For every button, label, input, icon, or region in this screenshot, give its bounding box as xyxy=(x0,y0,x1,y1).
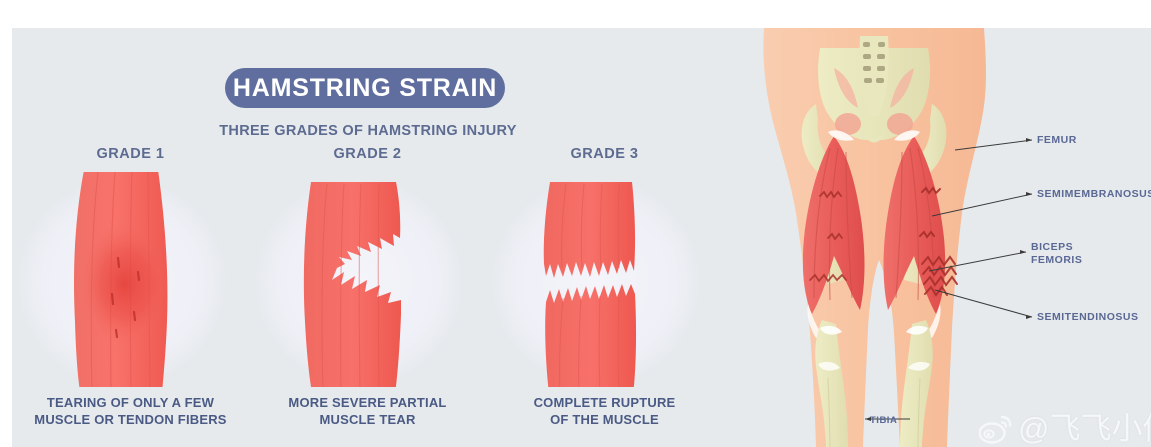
arrow-biceps-femoris xyxy=(1020,250,1026,254)
label-biceps-femoris-line2: FEMORIS xyxy=(1031,254,1082,266)
grade-2-panel: GRADE 2 xyxy=(249,146,486,446)
infographic-root: HAMSTRING STRAIN THREE GRADES OF HAMSTRI… xyxy=(0,0,1151,447)
grade-2-illustration xyxy=(249,172,486,387)
label-biceps-femoris: BICEPS FEMORIS xyxy=(1031,241,1082,267)
label-biceps-femoris-line1: BICEPS xyxy=(1031,241,1073,253)
anatomy-section: FEMUR SEMIMEMBRANOSUS BICEPS FEMORIS SEM… xyxy=(724,28,1151,447)
grade-2-caption-line2: MUSCLE TEAR xyxy=(319,412,415,427)
label-tibia: TIBIA xyxy=(870,414,897,427)
grade-2-caption-line1: MORE SEVERE PARTIAL xyxy=(288,395,446,410)
arrow-semitendinosus xyxy=(1026,315,1032,319)
leader-biceps-femoris xyxy=(929,252,1026,271)
label-semitendinosus: SEMITENDINOSUS xyxy=(1037,311,1139,324)
grades-section: HAMSTRING STRAIN THREE GRADES OF HAMSTRI… xyxy=(12,28,724,447)
title-banner: HAMSTRING STRAIN xyxy=(225,68,505,108)
label-semimembranosus: SEMIMEMBRANOSUS xyxy=(1037,188,1151,201)
subtitle: THREE GRADES OF HAMSTRING INJURY xyxy=(12,123,724,139)
infographic-panel: HAMSTRING STRAIN THREE GRADES OF HAMSTRI… xyxy=(12,28,1151,447)
grade-1-title: GRADE 1 xyxy=(12,146,249,162)
grade-1-caption-line2: MUSCLE OR TENDON FIBERS xyxy=(34,412,226,427)
leader-femur xyxy=(955,140,1032,150)
arrow-semimembranosus xyxy=(1026,192,1032,196)
grade-2-title: GRADE 2 xyxy=(249,146,486,162)
grade-3-illustration xyxy=(486,172,723,387)
grade-2-caption: MORE SEVERE PARTIAL MUSCLE TEAR xyxy=(249,394,486,428)
grade-3-panel: GRADE 3 xyxy=(486,146,723,446)
leader-semitendinosus xyxy=(935,290,1032,317)
label-leader-lines xyxy=(724,28,1151,447)
grade-3-caption-line1: COMPLETE RUPTURE xyxy=(534,395,676,410)
grade-1-caption-line1: TEARING OF ONLY A FEW xyxy=(47,395,214,410)
arrow-femur xyxy=(1026,138,1032,142)
label-femur: FEMUR xyxy=(1037,134,1077,147)
grade-3-caption: COMPLETE RUPTURE OF THE MUSCLE xyxy=(486,394,723,428)
grade-1-caption: TEARING OF ONLY A FEW MUSCLE OR TENDON F… xyxy=(12,394,249,428)
grade-1-illustration xyxy=(12,172,249,387)
page-title: HAMSTRING STRAIN xyxy=(233,74,497,103)
grade-3-caption-line2: OF THE MUSCLE xyxy=(550,412,659,427)
grade-1-panel: GRADE 1 xyxy=(12,146,249,446)
leader-semimembranosus xyxy=(932,194,1032,216)
grade-3-title: GRADE 3 xyxy=(486,146,723,162)
